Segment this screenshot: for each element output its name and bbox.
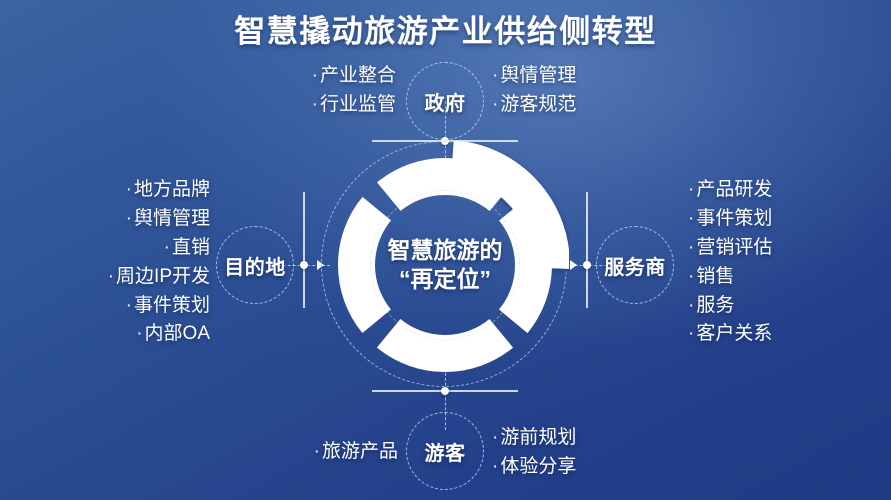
diagram-canvas: 智慧撬动旅游产业供给侧转型 智慧旅游的 (0, 0, 891, 500)
list-item: ·体验分享 (492, 453, 632, 482)
bullet-icon: · (688, 179, 694, 200)
bullet-icon: · (312, 65, 318, 86)
bullet-icon: · (688, 295, 694, 316)
bullet-icon: · (136, 323, 142, 344)
list-item-label: 游前规划 (500, 427, 576, 448)
connector-dot-left (300, 261, 308, 269)
list-item: ·地方品牌 (62, 176, 210, 205)
bullet-icon: · (126, 295, 132, 316)
list-item: ·周边IP开发 (62, 263, 210, 292)
list-item: ·旅游产品 (286, 438, 398, 467)
list-item-label: 产品研发 (696, 179, 772, 200)
list-item: ·事件策划 (688, 205, 838, 234)
node-destination[interactable]: 目的地 (216, 226, 294, 304)
arrow-right-icon-right (570, 260, 577, 270)
bullet-icon: · (108, 266, 114, 287)
list-item-label: 旅游产品 (322, 441, 398, 462)
list-item-label: 舆情管理 (134, 208, 210, 229)
list-item-label: 地方品牌 (134, 179, 210, 200)
node-destination-label: 目的地 (224, 251, 286, 280)
list-item-label: 游客规范 (500, 94, 576, 115)
node-provider-label: 服务商 (604, 251, 666, 280)
list-item-label: 产业整合 (320, 65, 396, 86)
list-item-label: 事件策划 (134, 295, 210, 316)
list-item: ·游前规划 (492, 424, 632, 453)
list-item-label: 销售 (696, 266, 734, 287)
items-government-right: ·舆情管理·游客规范 (492, 62, 632, 120)
ring-inner-dashed (370, 190, 520, 340)
bullet-icon: · (688, 208, 694, 229)
list-item: ·行业监管 (274, 91, 396, 120)
list-item-label: 行业监管 (320, 94, 396, 115)
list-item: ·舆情管理 (62, 205, 210, 234)
node-government-label: 政府 (425, 87, 466, 116)
bullet-icon: · (688, 323, 694, 344)
list-item: ·内部OA (62, 320, 210, 349)
bullet-icon: · (492, 94, 498, 115)
items-tourist-left: ·旅游产品 (286, 438, 398, 467)
bullet-icon: · (492, 427, 498, 448)
list-item: ·舆情管理 (492, 62, 632, 91)
center-ring: 智慧旅游的 “再定位” (321, 141, 569, 389)
list-item-label: 事件策划 (696, 208, 772, 229)
bullet-icon: · (164, 237, 170, 258)
bullet-icon: · (126, 179, 132, 200)
list-item: ·服务 (688, 292, 838, 321)
list-item: ·产品研发 (688, 176, 838, 205)
list-item: ·客户关系 (688, 320, 838, 349)
list-item-label: 营销评估 (696, 237, 772, 258)
bullet-icon: · (492, 65, 498, 86)
list-item-label: 直销 (172, 237, 210, 258)
list-item: ·游客规范 (492, 91, 632, 120)
list-item: ·事件策划 (62, 292, 210, 321)
list-item-label: 体验分享 (500, 456, 576, 477)
list-item-label: 内部OA (145, 323, 210, 344)
connector-bar-left (303, 192, 305, 308)
node-tourist-label: 游客 (425, 437, 466, 466)
node-government[interactable]: 政府 (406, 62, 484, 140)
list-item: ·销售 (688, 263, 838, 292)
node-tourist[interactable]: 游客 (406, 412, 484, 490)
list-item: ·营销评估 (688, 234, 838, 263)
node-provider[interactable]: 服务商 (596, 226, 674, 304)
bullet-icon: · (688, 266, 694, 287)
list-item-label: 舆情管理 (500, 65, 576, 86)
items-government-left: ·产业整合·行业监管 (274, 62, 396, 120)
list-item: ·产业整合 (274, 62, 396, 91)
list-item: ·直销 (62, 234, 210, 263)
bullet-icon: · (314, 441, 320, 462)
list-item-label: 客户关系 (696, 323, 772, 344)
items-tourist-right: ·游前规划·体验分享 (492, 424, 632, 482)
page-title: 智慧撬动旅游产业供给侧转型 (0, 6, 891, 51)
bullet-icon: · (126, 208, 132, 229)
connector-dot-right (583, 261, 591, 269)
connector-bar-right (586, 192, 588, 308)
list-item-label: 服务 (696, 295, 734, 316)
bullet-icon: · (688, 237, 694, 258)
items-destination: ·地方品牌·舆情管理·直销·周边IP开发·事件策划·内部OA (62, 176, 210, 349)
items-provider: ·产品研发·事件策划·营销评估·销售·服务·客户关系 (688, 176, 838, 349)
bullet-icon: · (312, 94, 318, 115)
list-item-label: 周边IP开发 (116, 266, 210, 287)
bullet-icon: · (492, 456, 498, 477)
